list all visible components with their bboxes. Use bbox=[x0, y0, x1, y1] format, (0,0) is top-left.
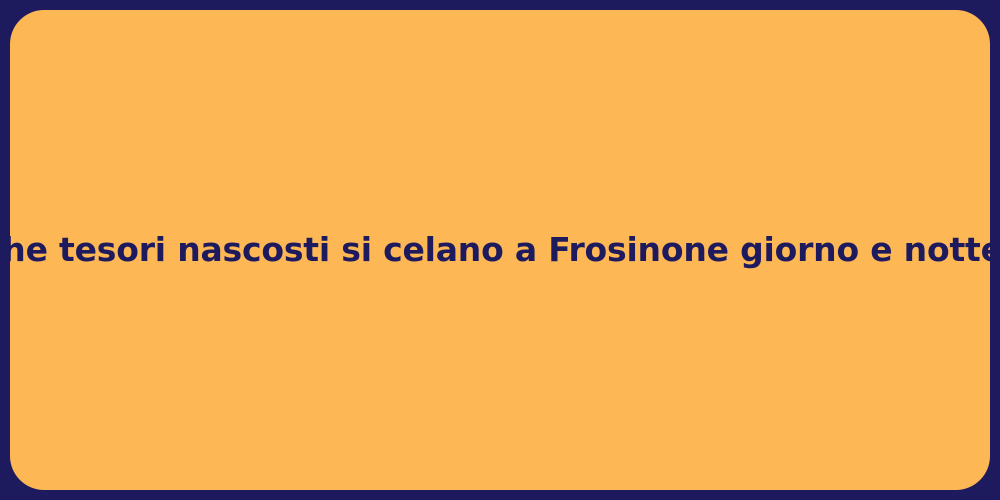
card-frame: Che tesori nascosti si celano a Frosinon… bbox=[0, 0, 1000, 500]
question-heading: Che tesori nascosti si celano a Frosinon… bbox=[0, 229, 1000, 270]
question-card: Che tesori nascosti si celano a Frosinon… bbox=[10, 10, 990, 490]
